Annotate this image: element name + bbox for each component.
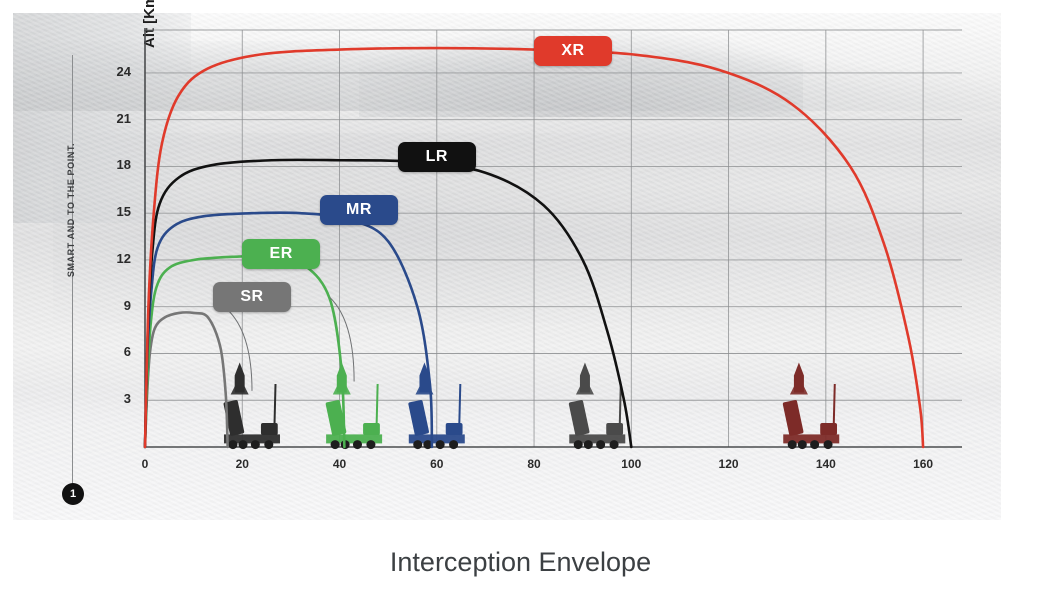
y-tick-label: 9 [105,298,131,313]
x-tick-label: 100 [616,457,646,471]
x-tick-label: 140 [811,457,841,471]
side-rail: SMART AND TO THE POINT. 1 [55,55,91,505]
y-tick-label: 18 [105,157,131,172]
y-tick-label: 21 [105,111,131,126]
series-tag-sr[interactable]: SR [213,282,291,312]
x-tick-label: 20 [227,457,257,471]
slide-number-badge: 1 [62,483,84,505]
figure-caption: Interception Envelope [0,528,1041,596]
y-tick-label: 24 [105,64,131,79]
x-tick-label: 40 [325,457,355,471]
x-tick-label: 60 [422,457,452,471]
series-tag-mr[interactable]: MR [320,195,398,225]
series-tag-er[interactable]: ER [242,239,320,269]
launcher-icons [223,363,839,450]
y-tick-label: 12 [105,251,131,266]
axes [145,28,962,447]
y-tick-label: 6 [105,344,131,359]
rail-tagline: SMART AND TO THE POINT. [66,110,76,310]
x-tick-label: 0 [130,457,160,471]
series-tag-xr[interactable]: XR [534,36,612,66]
series-tag-lr[interactable]: LR [398,142,476,172]
x-tick-label: 80 [519,457,549,471]
figure: SMART AND TO THE POINT. 1 Alt [Km] 36912… [0,0,1041,528]
y-tick-label: 3 [105,391,131,406]
y-tick-label: 15 [105,204,131,219]
chart-plot-area: 3691215182124 020406080100120140160 SRER… [127,24,972,487]
x-tick-label: 160 [908,457,938,471]
x-tick-label: 120 [714,457,744,471]
